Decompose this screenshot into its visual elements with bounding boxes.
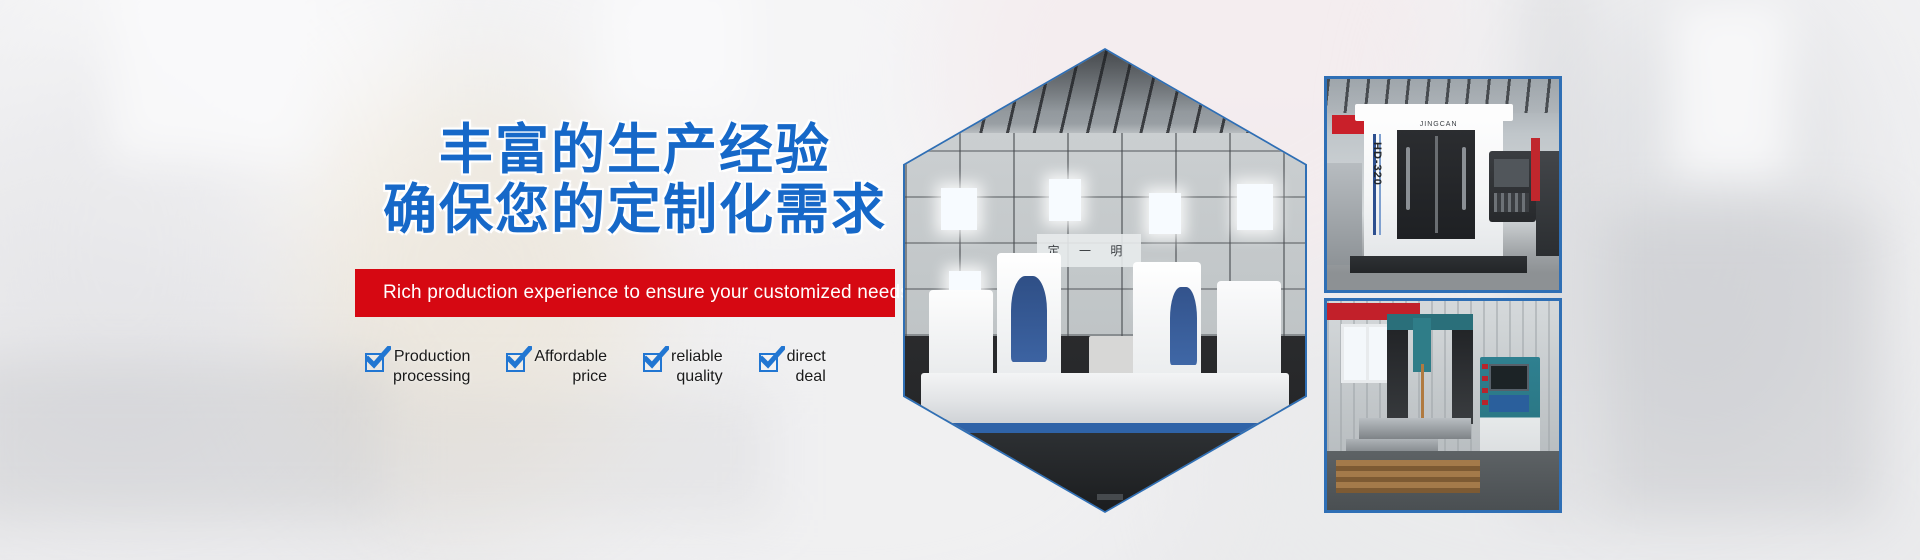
- machine-top-cap: [1355, 104, 1513, 121]
- machine-column: [1452, 320, 1473, 425]
- feature-label: direct deal: [787, 347, 826, 387]
- door-handle: [1406, 147, 1410, 210]
- workshop-window: [1341, 324, 1392, 383]
- machine-brand-label: JINGCAN: [1420, 121, 1458, 128]
- feature-label: Production processing: [393, 347, 470, 387]
- workshop-window: [1237, 184, 1273, 230]
- headline-line-1: 丰富的生产经验: [439, 120, 831, 180]
- page-title: 丰富的生产经验 确保您的定制化需求: [355, 120, 915, 241]
- electrode-rod: [1421, 364, 1424, 427]
- thumbnail-machining-center[interactable]: HD-320 JINGCAN: [1324, 76, 1562, 293]
- feature-label: Affordable price: [534, 347, 607, 387]
- control-screen: [1489, 364, 1528, 391]
- promo-banner: 丰富的生产经验 确保您的定制化需求 Rich production experi…: [0, 0, 1920, 560]
- feature-list: Production processing Affordable price r…: [355, 347, 915, 387]
- subtitle-text: Rich production experience to ensure you…: [383, 282, 910, 304]
- feature-label: reliable quality: [671, 347, 723, 387]
- control-screen: [1494, 159, 1529, 186]
- machine-accent-stripe: [921, 423, 1289, 432]
- checkbox-checked-icon[interactable]: [759, 353, 778, 372]
- list-item[interactable]: direct deal: [759, 347, 826, 387]
- list-item[interactable]: Affordable price: [506, 347, 607, 387]
- checkbox-checked-icon[interactable]: [365, 353, 384, 372]
- workshop-window: [941, 188, 977, 229]
- list-item[interactable]: Production processing: [365, 347, 470, 387]
- machine-model-label: HD-320: [1371, 142, 1383, 186]
- safety-marking: [1531, 138, 1540, 201]
- workshop-window: [1149, 193, 1181, 234]
- checkbox-checked-icon[interactable]: [643, 353, 662, 372]
- wooden-pallet: [1336, 460, 1480, 493]
- subtitle-bar: Rich production experience to ensure you…: [355, 269, 895, 317]
- control-keypad: [1489, 395, 1528, 412]
- adjacent-equipment: [1327, 163, 1362, 264]
- checkbox-checked-icon[interactable]: [506, 353, 525, 372]
- door-handle: [1462, 147, 1466, 210]
- list-item[interactable]: reliable quality: [643, 347, 723, 387]
- shop-floor: [1327, 273, 1559, 290]
- banner-copy: 丰富的生产经验 确保您的定制化需求 Rich production experi…: [355, 120, 915, 387]
- control-buttons: [1482, 364, 1488, 410]
- control-keypad: [1494, 193, 1529, 212]
- workshop-window: [1049, 179, 1081, 220]
- machine-worktable: [1359, 418, 1470, 439]
- headline-line-2: 确保您的定制化需求: [355, 180, 915, 240]
- thumbnail-edm-machine[interactable]: [1324, 298, 1562, 513]
